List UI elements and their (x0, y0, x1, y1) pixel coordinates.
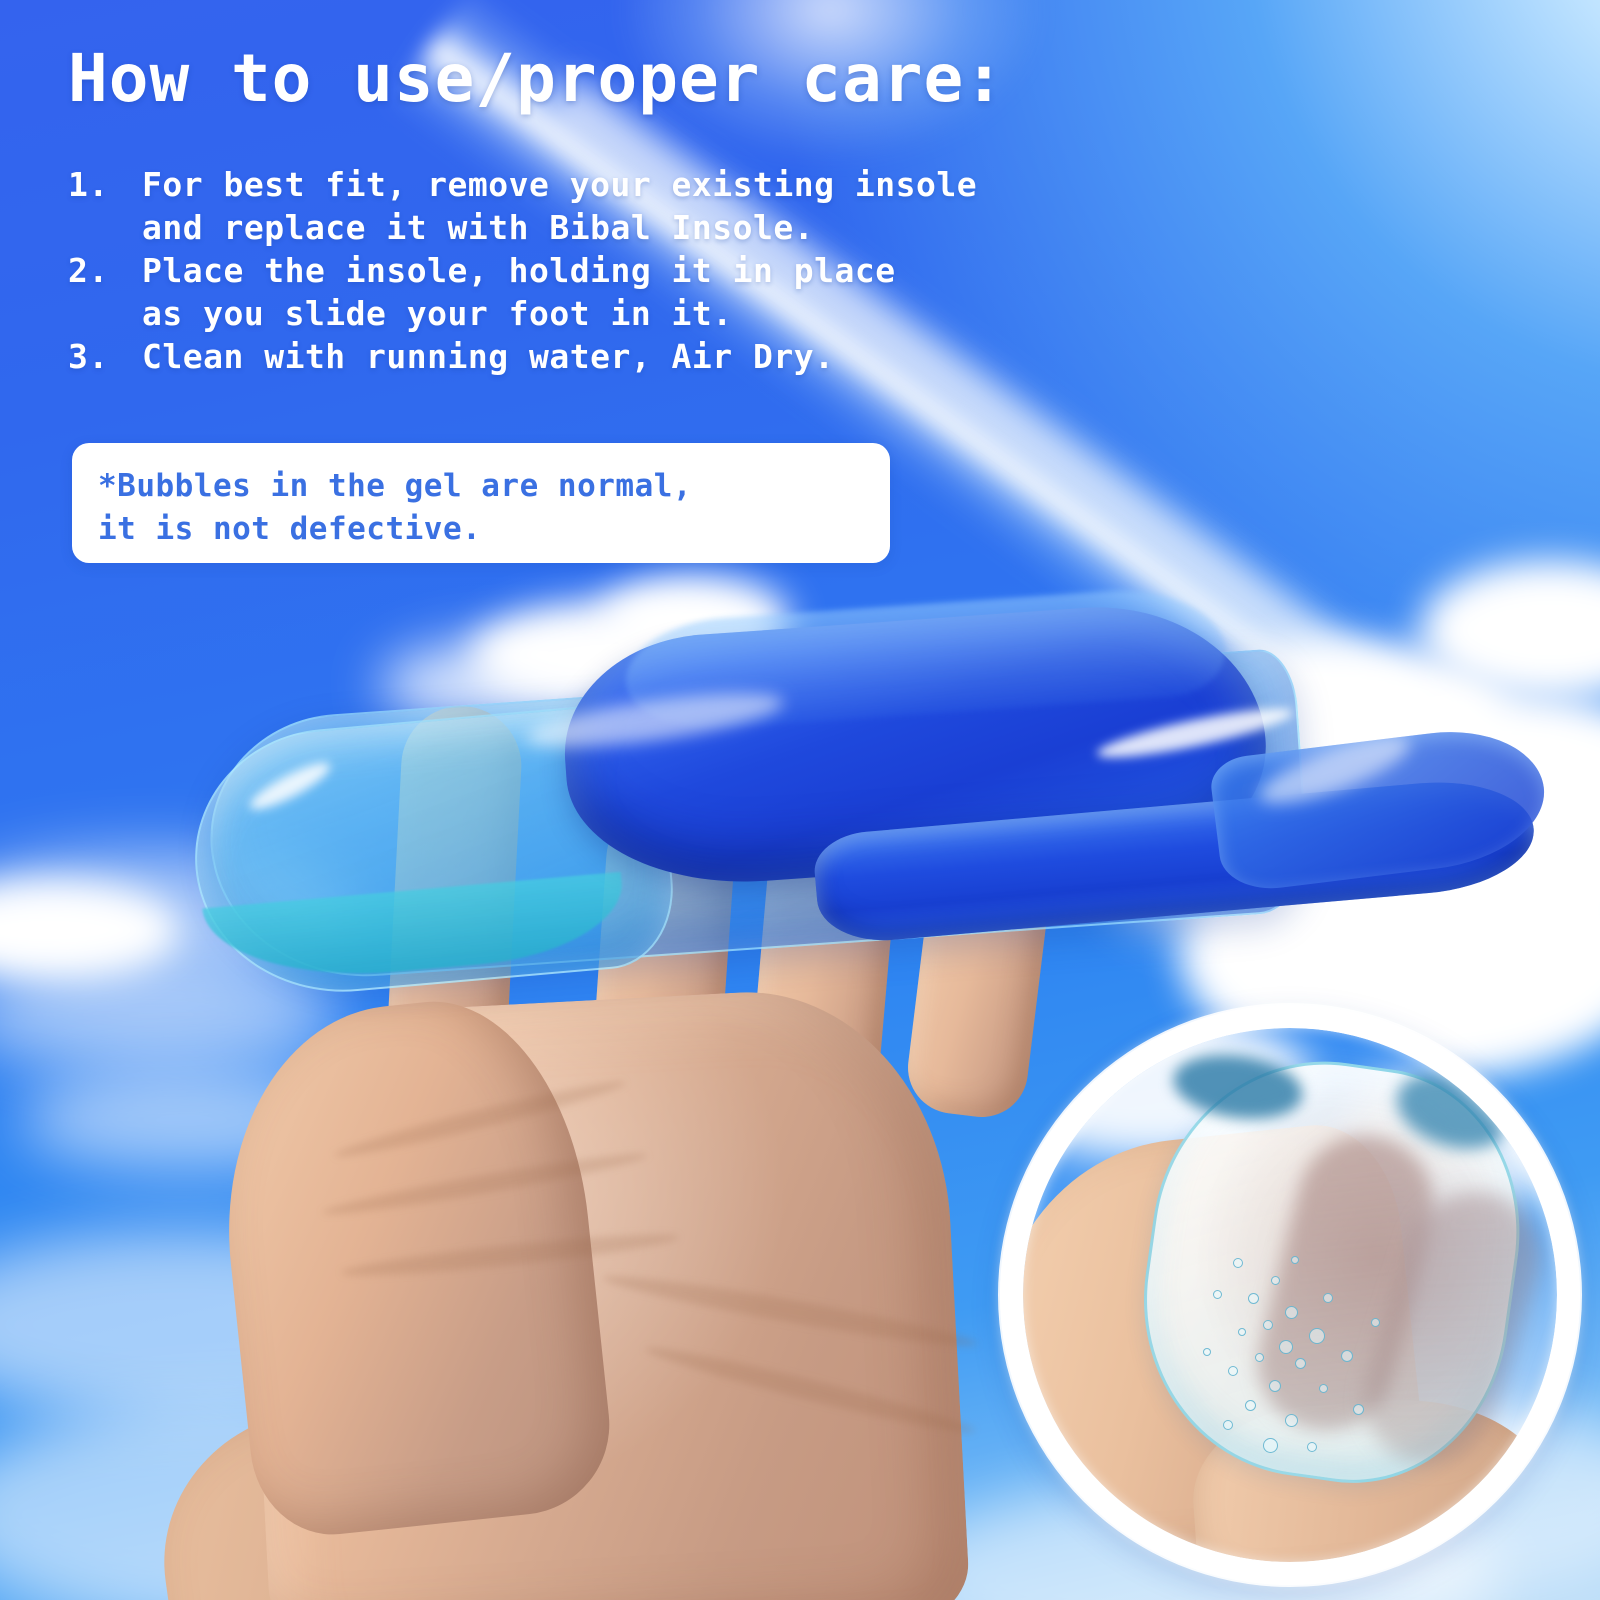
list-item: 3. Clean with running water, Air Dry. (68, 335, 1248, 378)
gel-bubble (1228, 1366, 1238, 1376)
gel-bubble (1323, 1293, 1333, 1303)
gel-bubble (1319, 1384, 1328, 1393)
gel-bubble (1271, 1276, 1280, 1285)
inset-photo (1023, 1028, 1557, 1562)
list-item-number: 1. (68, 163, 142, 249)
gel-bubble (1263, 1438, 1278, 1453)
list-item-number: 2. (68, 249, 142, 335)
list-item-number: 3. (68, 335, 142, 378)
gel-bubble (1255, 1353, 1264, 1362)
gel-bubble (1203, 1348, 1211, 1356)
gel-bubble (1341, 1350, 1353, 1362)
gel-bubble (1353, 1404, 1364, 1415)
list-item-line: and replace it with Bibal Insole. (142, 206, 1248, 249)
list-item-text: Clean with running water, Air Dry. (142, 335, 1248, 378)
gel-insole-product (195, 590, 1360, 970)
list-item: 1. For best fit, remove your existing in… (68, 163, 1248, 249)
list-item-text: For best fit, remove your existing insol… (142, 163, 1248, 249)
gel-bubble (1269, 1380, 1281, 1392)
gel-bubble (1238, 1328, 1246, 1336)
gel-bubble (1263, 1320, 1273, 1330)
instructions-list: 1. For best fit, remove your existing in… (68, 163, 1248, 378)
bubble-closeup-inset (1000, 1005, 1580, 1585)
note-line: *Bubbles in the gel are normal, (98, 465, 876, 508)
list-item-line: as you slide your foot in it. (142, 292, 1248, 335)
cloud-wisp (20, 1070, 350, 1170)
infographic-canvas: How to use/proper care: 1. For best fit,… (0, 0, 1600, 1600)
list-item-line: Place the insole, holding it in place (142, 251, 896, 290)
note-text: *Bubbles in the gel are normal, it is no… (98, 465, 876, 551)
gel-bubble (1295, 1358, 1306, 1369)
gel-bubble (1307, 1442, 1317, 1452)
gel-bubble (1285, 1306, 1298, 1319)
list-item-line: For best fit, remove your existing insol… (142, 165, 977, 204)
note-line: it is not defective. (98, 508, 876, 551)
gel-bubble (1223, 1420, 1233, 1430)
page-title: How to use/proper care: (68, 40, 1005, 118)
gel-bubble (1291, 1256, 1299, 1264)
gel-bubble (1285, 1414, 1298, 1427)
list-item-line: Clean with running water, Air Dry. (142, 337, 835, 376)
gel-bubble (1233, 1258, 1243, 1268)
note-callout-box: *Bubbles in the gel are normal, it is no… (72, 443, 890, 563)
gel-bubble (1245, 1400, 1256, 1411)
gel-bubble (1279, 1340, 1293, 1354)
gel-bubble (1371, 1318, 1380, 1327)
gel-bubble (1248, 1293, 1259, 1304)
gel-bubble (1309, 1328, 1325, 1344)
list-item-text: Place the insole, holding it in place as… (142, 249, 1248, 335)
gel-bubble (1213, 1290, 1222, 1299)
list-item: 2. Place the insole, holding it in place… (68, 249, 1248, 335)
